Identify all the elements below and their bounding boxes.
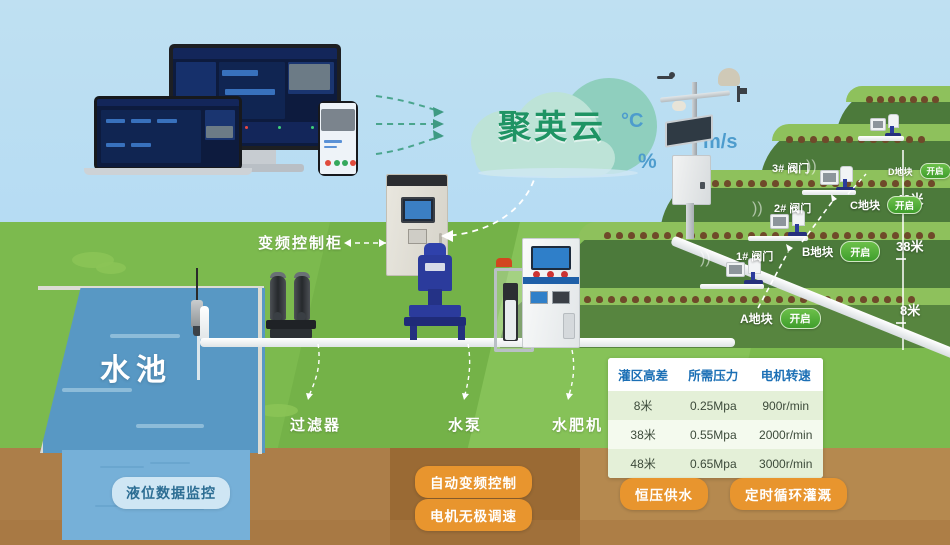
plot-d-row: D地块 开启 (888, 163, 950, 179)
pool-riser-pipe (200, 306, 209, 342)
phone-camera-feed (321, 109, 354, 132)
dashboard-bar (106, 143, 126, 147)
filter-manifold (266, 320, 316, 329)
valve-branch-pipe (858, 136, 904, 141)
fertigation-hmi-screen[interactable] (531, 246, 571, 270)
cell-pressure: 0.65Mpa (678, 449, 748, 478)
cloud-platform-label: 聚英云 (498, 100, 606, 148)
dashboard-bar (131, 119, 151, 123)
dashboard-header (97, 99, 239, 106)
dashboard-camera-feed (289, 64, 330, 90)
pool-edge (258, 286, 262, 454)
pool-label: 水池 (100, 345, 172, 389)
fertigation-cabinet[interactable] (522, 238, 580, 348)
valve-controller-box[interactable] (870, 118, 886, 131)
grass-blob (96, 262, 126, 274)
pump-leader-line (452, 344, 478, 406)
phone-screen (320, 103, 356, 174)
fertigation-accent-band (523, 277, 579, 284)
cell-speed: 3000r/min (748, 449, 823, 478)
wind-vane-icon (733, 86, 747, 102)
irrigation-parameter-table: 灌区高差 所需压力 电机转速 8米 0.25Mpa 900r/min 38米 0… (608, 358, 823, 478)
cloud-shadow (478, 168, 638, 178)
device-to-cloud-arrows (376, 84, 476, 166)
laptop[interactable] (94, 96, 242, 170)
phone-bar (324, 140, 342, 143)
anemometer-icon (657, 72, 673, 84)
plot-c-status-badge[interactable]: 开启 (887, 196, 922, 214)
mobile-phone[interactable] (318, 101, 358, 176)
rain-gauge-icon (718, 68, 740, 86)
plot-d-label: D地块 (888, 165, 913, 178)
elevation-tick (896, 322, 906, 324)
cell-pressure: 0.25Mpa (678, 391, 748, 420)
water-line (136, 424, 204, 428)
column-header-elevation: 灌区高差 (608, 358, 678, 391)
valve-controller-screen (873, 121, 883, 128)
water-pump-label: 水泵 (448, 414, 482, 435)
vfd-cabinet-label: 变频控制柜 (258, 232, 343, 253)
wireless-signal-icon: )) (700, 250, 711, 268)
table-row: 8米 0.25Mpa 900r/min (608, 391, 823, 420)
filter-label: 过滤器 (290, 414, 341, 435)
fertigation-leader-line (556, 350, 582, 406)
cabinet-leader-line (336, 236, 390, 250)
cell-elevation: 8米 (608, 391, 678, 420)
feature-stepless-speed-pill[interactable]: 电机无极调速 (415, 499, 532, 531)
table-row: 38米 0.55Mpa 2000r/min (608, 420, 823, 449)
pump-leg (458, 326, 465, 340)
elevation-label-38: 38米 (896, 236, 923, 255)
dashboard-bar (222, 70, 258, 77)
pump-body (418, 255, 452, 291)
fertigation-door[interactable] (563, 313, 575, 339)
plot-d-status-badge[interactable]: 开启 (920, 163, 950, 179)
dashboard-camera-feed (206, 126, 233, 138)
elevation-label-8: 8米 (900, 300, 920, 319)
water-wave (100, 466, 144, 468)
station-enclosure (672, 155, 711, 205)
pump-flange (404, 317, 466, 326)
table-header-row: 灌区高差 所需压力 电机转速 (608, 358, 823, 391)
phone-bar (324, 146, 336, 149)
pump-base (409, 305, 461, 317)
cell-speed: 2000r/min (748, 420, 823, 449)
pump-nameplate (425, 263, 445, 271)
fertigation-display-a (530, 291, 548, 304)
water-line (110, 334, 180, 338)
dashboard-bar (131, 143, 151, 147)
feature-timed-irrigation-pill[interactable]: 定时循环灌溉 (730, 478, 847, 510)
fertigation-hmi-display (533, 248, 569, 268)
plot-flow-arrows (740, 180, 870, 320)
irrigation-system-diagram: 48米 38米 8米 1# 阀门 )) 2# 阀门 )) 3# 阀门 )) (0, 0, 950, 545)
phone-action-button[interactable] (325, 160, 331, 166)
humidity-unit-label: % (638, 150, 657, 174)
fertigation-label: 水肥机 (552, 414, 603, 435)
sensor-pod-icon (672, 101, 686, 111)
filter-frame (270, 329, 312, 338)
filter-leader-line (296, 344, 326, 406)
dashboard-header (173, 48, 337, 59)
cell-speed: 900r/min (748, 391, 823, 420)
fertigation-lever[interactable] (496, 258, 512, 267)
phone-action-button[interactable] (350, 160, 356, 166)
valve-3-label: 3# 阀门 (772, 160, 809, 176)
feature-constant-pressure-pill[interactable]: 恒压供水 (620, 478, 708, 510)
dashboard-bar (225, 89, 274, 95)
dashboard-grid-panel (101, 110, 200, 163)
feature-auto-vfd-pill[interactable]: 自动变频控制 (415, 466, 532, 498)
fertigation-pump-casing (505, 300, 516, 340)
dashboard-bar (157, 119, 177, 123)
laptop-base (84, 168, 252, 175)
level-monitor-badge[interactable]: 液位数据监控 (112, 477, 230, 509)
cell-elevation: 48米 (608, 449, 678, 478)
temperature-unit-label: °C (621, 110, 643, 133)
phone-action-button[interactable] (334, 160, 340, 166)
water-wave (150, 462, 190, 464)
dashboard-bar (106, 119, 126, 123)
station-post (686, 203, 694, 239)
enclosure-lock-icon[interactable] (700, 182, 705, 189)
wireless-signal-icon: )) (806, 158, 817, 176)
pump-leg (410, 326, 417, 340)
cell-pressure: 0.55Mpa (678, 420, 748, 449)
cell-elevation: 38米 (608, 420, 678, 449)
column-header-pressure: 所需压力 (678, 358, 748, 391)
laptop-screen (97, 99, 239, 167)
fertigation-display-b (552, 291, 570, 304)
table-row: 48米 0.65Mpa 3000r/min (608, 449, 823, 478)
column-header-speed: 电机转速 (748, 358, 823, 391)
elevation-tick (896, 258, 906, 260)
